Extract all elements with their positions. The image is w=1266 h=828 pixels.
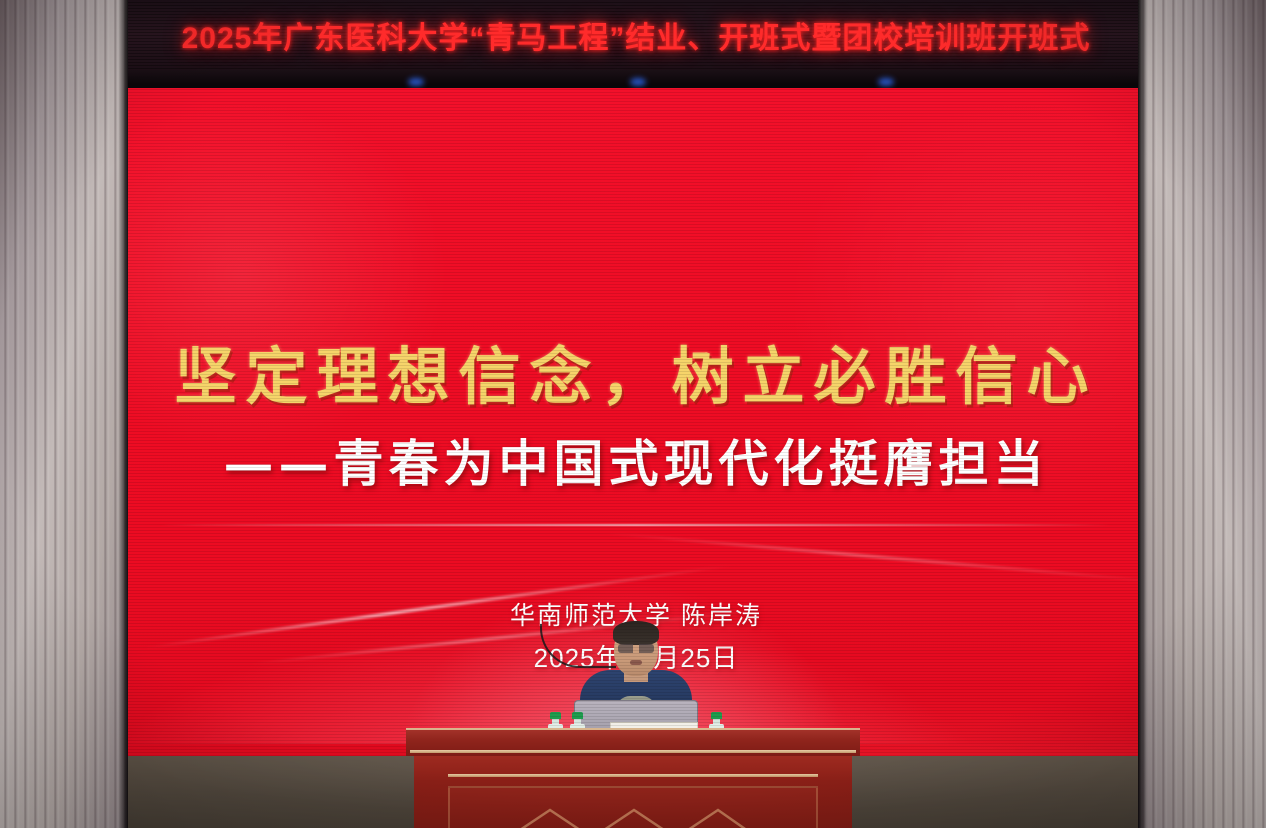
podium: [414, 728, 852, 828]
led-banner: 2025年广东医科大学“青马工程”结业、开班式暨团校培训班开班式: [118, 0, 1154, 78]
podium-top-trim: [410, 750, 856, 753]
glasses-icon: [618, 644, 654, 653]
slide-subtitle: ——青春为中国式现代化挺膺担当: [118, 424, 1154, 496]
led-screen: 坚定理想信念，树立必胜信心 ——青春为中国式现代化挺膺担当 华南师范大学 陈岸涛…: [118, 88, 1154, 756]
podium-top: [406, 728, 860, 756]
speaker-mouth: [630, 660, 642, 665]
led-banner-text: 2025年广东医科大学“青马工程”结业、开班式暨团校培训班开班式: [182, 13, 1091, 57]
speaker-hair: [613, 621, 659, 645]
banner-screen-gap: [118, 70, 1154, 90]
accent-light-icon: [630, 78, 646, 86]
accent-light-icon: [408, 78, 424, 86]
slide-divider: [159, 524, 1112, 526]
accent-light-icon: [878, 78, 894, 86]
podium-body: [414, 756, 852, 828]
wall-panel-right: [1138, 0, 1266, 828]
podium-diamond-ornament: [508, 804, 758, 828]
stage-photo: 2025年广东医科大学“青马工程”结业、开班式暨团校培训班开班式 坚定理想信念，…: [0, 0, 1266, 828]
podium-rail-trim: [448, 774, 818, 777]
speaker-head: [614, 624, 658, 676]
slide-title: 坚定理想信念，树立必胜信心: [118, 326, 1154, 416]
wall-panel-left: [0, 0, 128, 828]
podium-inset-panel: [448, 786, 818, 828]
